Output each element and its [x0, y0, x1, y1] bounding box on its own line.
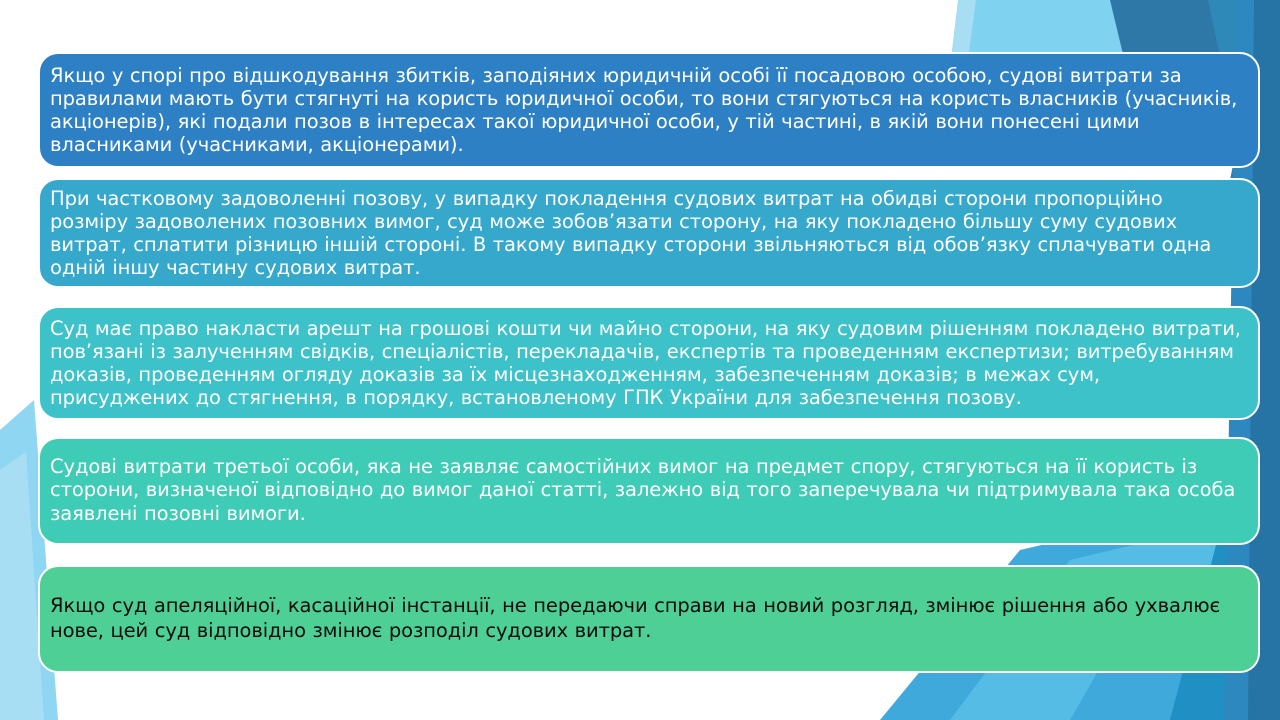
callout-text-3: Суд має право накласти арешт на грошові … — [50, 317, 1244, 410]
callout-text-2: При частковому задоволенні позову, у вип… — [50, 187, 1244, 280]
callout-list: Якщо у спорі про відшкодування збитків, … — [0, 0, 1280, 720]
callout-box-5[interactable]: Якщо суд апеляційної, касаційної інстанц… — [38, 565, 1260, 673]
callout-text-1: Якщо у спорі про відшкодування збитків, … — [50, 64, 1244, 157]
callout-box-2[interactable]: При частковому задоволенні позову, у вип… — [38, 178, 1260, 288]
callout-box-4[interactable]: Судові витрати третьої особи, яка не зая… — [38, 437, 1260, 545]
presentation-slide: Якщо у спорі про відшкодування збитків, … — [0, 0, 1280, 720]
callout-box-3[interactable]: Суд має право накласти арешт на грошові … — [38, 306, 1260, 420]
callout-box-1[interactable]: Якщо у спорі про відшкодування збитків, … — [38, 52, 1260, 168]
callout-text-5: Якщо суд апеляційної, касаційної інстанц… — [50, 594, 1244, 644]
callout-text-4: Судові витрати третьої особи, яка не зая… — [50, 455, 1244, 525]
